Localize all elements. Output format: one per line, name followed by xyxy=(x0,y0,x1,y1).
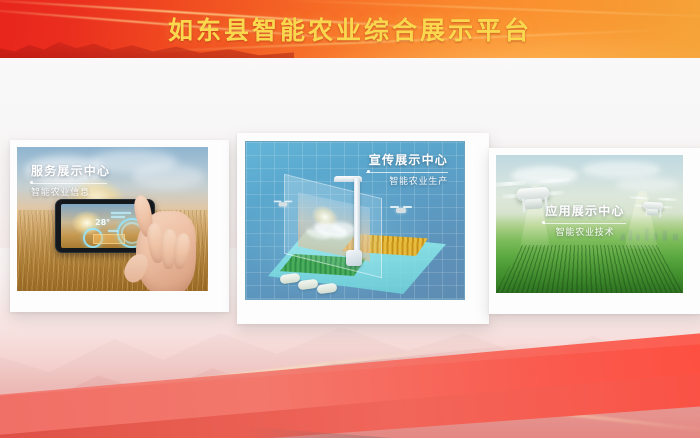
card-service-image: 28° 服务展示中心 智能农业信息 xyxy=(17,147,208,291)
hud-temperature-readout: 28° xyxy=(95,218,110,227)
drone-rotor xyxy=(538,178,571,183)
hud-bar xyxy=(108,230,118,232)
drone-body xyxy=(396,208,406,213)
drone-body xyxy=(279,202,288,206)
card-application-subtitle: 智能农业技术 xyxy=(544,228,626,238)
card-service-title: 服务展示中心 xyxy=(31,165,110,179)
drone-icon xyxy=(274,199,293,209)
card-service-caption: 服务展示中心 智能农业信息 xyxy=(31,165,110,198)
drone-spray-tank xyxy=(647,209,658,216)
drone-rotor xyxy=(629,196,649,199)
drone-icon xyxy=(390,204,412,216)
card-service-subtitle: 智能农业信息 xyxy=(31,188,110,198)
hand-illustration xyxy=(118,193,196,291)
card-promotion-caption: 宣传展示中心 智能农业生产 xyxy=(366,154,448,187)
page-title: 如东县智能农业综合展示平台 xyxy=(0,0,700,58)
cloud xyxy=(582,161,661,179)
cloud xyxy=(132,164,205,188)
card-application[interactable]: 应用展示中心 智能农业技术 xyxy=(489,148,700,314)
sensor-pole-base xyxy=(346,250,362,266)
drone-rotor xyxy=(657,198,677,201)
card-application-image: 应用展示中心 智能农业技术 xyxy=(496,155,683,293)
card-service[interactable]: 28° 服务展示中心 智能农业信息 xyxy=(10,140,229,312)
drone-spray-tank xyxy=(525,198,543,209)
card-application-caption: 应用展示中心 智能农业技术 xyxy=(544,205,626,238)
app-root: 如东县智能农业综合展示平台 xyxy=(0,0,700,438)
caption-divider xyxy=(544,223,626,224)
card-application-title: 应用展示中心 xyxy=(544,205,626,219)
crop-rows xyxy=(496,245,683,293)
drone-icon xyxy=(628,191,678,220)
caption-divider xyxy=(31,183,107,184)
cloud xyxy=(616,177,680,192)
card-promotion[interactable]: 宣传展示中心 智能农业生产 xyxy=(237,133,489,324)
card-promotion-subtitle: 智能农业生产 xyxy=(366,177,448,187)
sensor-pole xyxy=(354,178,360,254)
caption-divider xyxy=(366,172,448,173)
drone-rotor xyxy=(496,181,526,186)
card-promotion-image: 宣传展示中心 智能农业生产 xyxy=(245,141,465,300)
header-banner: 如东县智能农业综合展示平台 xyxy=(0,0,700,58)
card-promotion-title: 宣传展示中心 xyxy=(366,154,448,168)
drone-leg xyxy=(659,209,661,218)
